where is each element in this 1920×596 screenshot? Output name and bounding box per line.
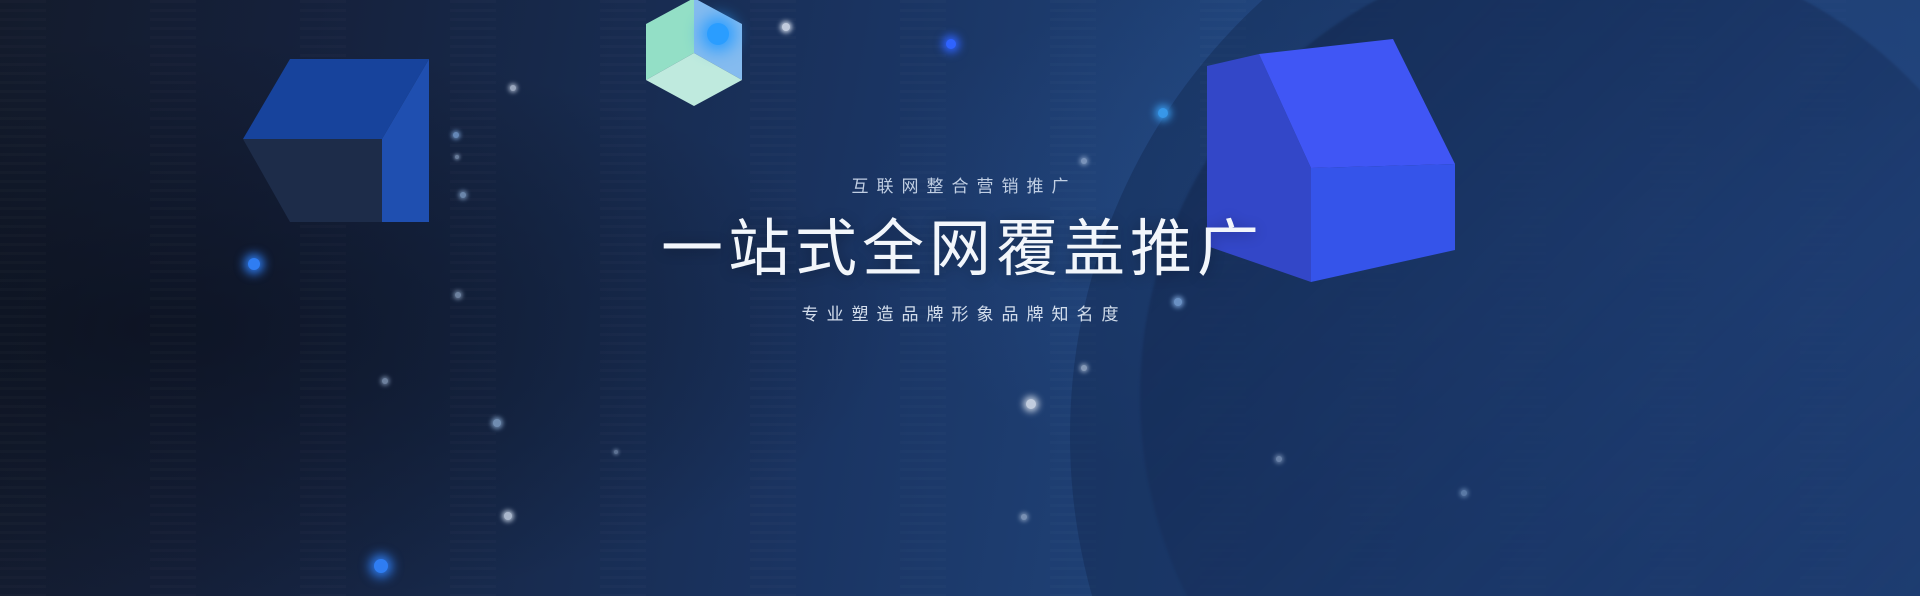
- banner-headline: 一站式全网覆盖推广: [0, 213, 1920, 286]
- banner-subline: 专业塑造品牌形象品牌知名度: [0, 306, 1920, 325]
- particle-dot: [374, 559, 388, 573]
- particle-dot: [1158, 108, 1168, 118]
- particle-dot: [455, 155, 459, 159]
- banner-eyebrow: 互联网整合营销推广: [0, 178, 1920, 197]
- particle-dot: [382, 378, 388, 384]
- cube-top-decoration: [646, 0, 742, 106]
- hero-banner: 互联网整合营销推广 一站式全网覆盖推广 专业塑造品牌形象品牌知名度: [0, 0, 1920, 596]
- particle-dot: [493, 419, 501, 427]
- particle-dot: [1081, 158, 1087, 164]
- particle-dot: [614, 450, 618, 454]
- particle-dot: [1461, 490, 1467, 496]
- particle-dot: [504, 512, 512, 520]
- particle-dot: [510, 85, 516, 91]
- particle-dot: [1021, 514, 1027, 520]
- particle-dot: [782, 23, 790, 31]
- particle-dot: [1026, 399, 1036, 409]
- particle-dot: [1081, 365, 1087, 371]
- particle-dot: [946, 39, 956, 49]
- particle-dot: [1276, 456, 1282, 462]
- banner-content: 互联网整合营销推广 一站式全网覆盖推广 专业塑造品牌形象品牌知名度: [0, 178, 1920, 325]
- particle-dot: [453, 132, 459, 138]
